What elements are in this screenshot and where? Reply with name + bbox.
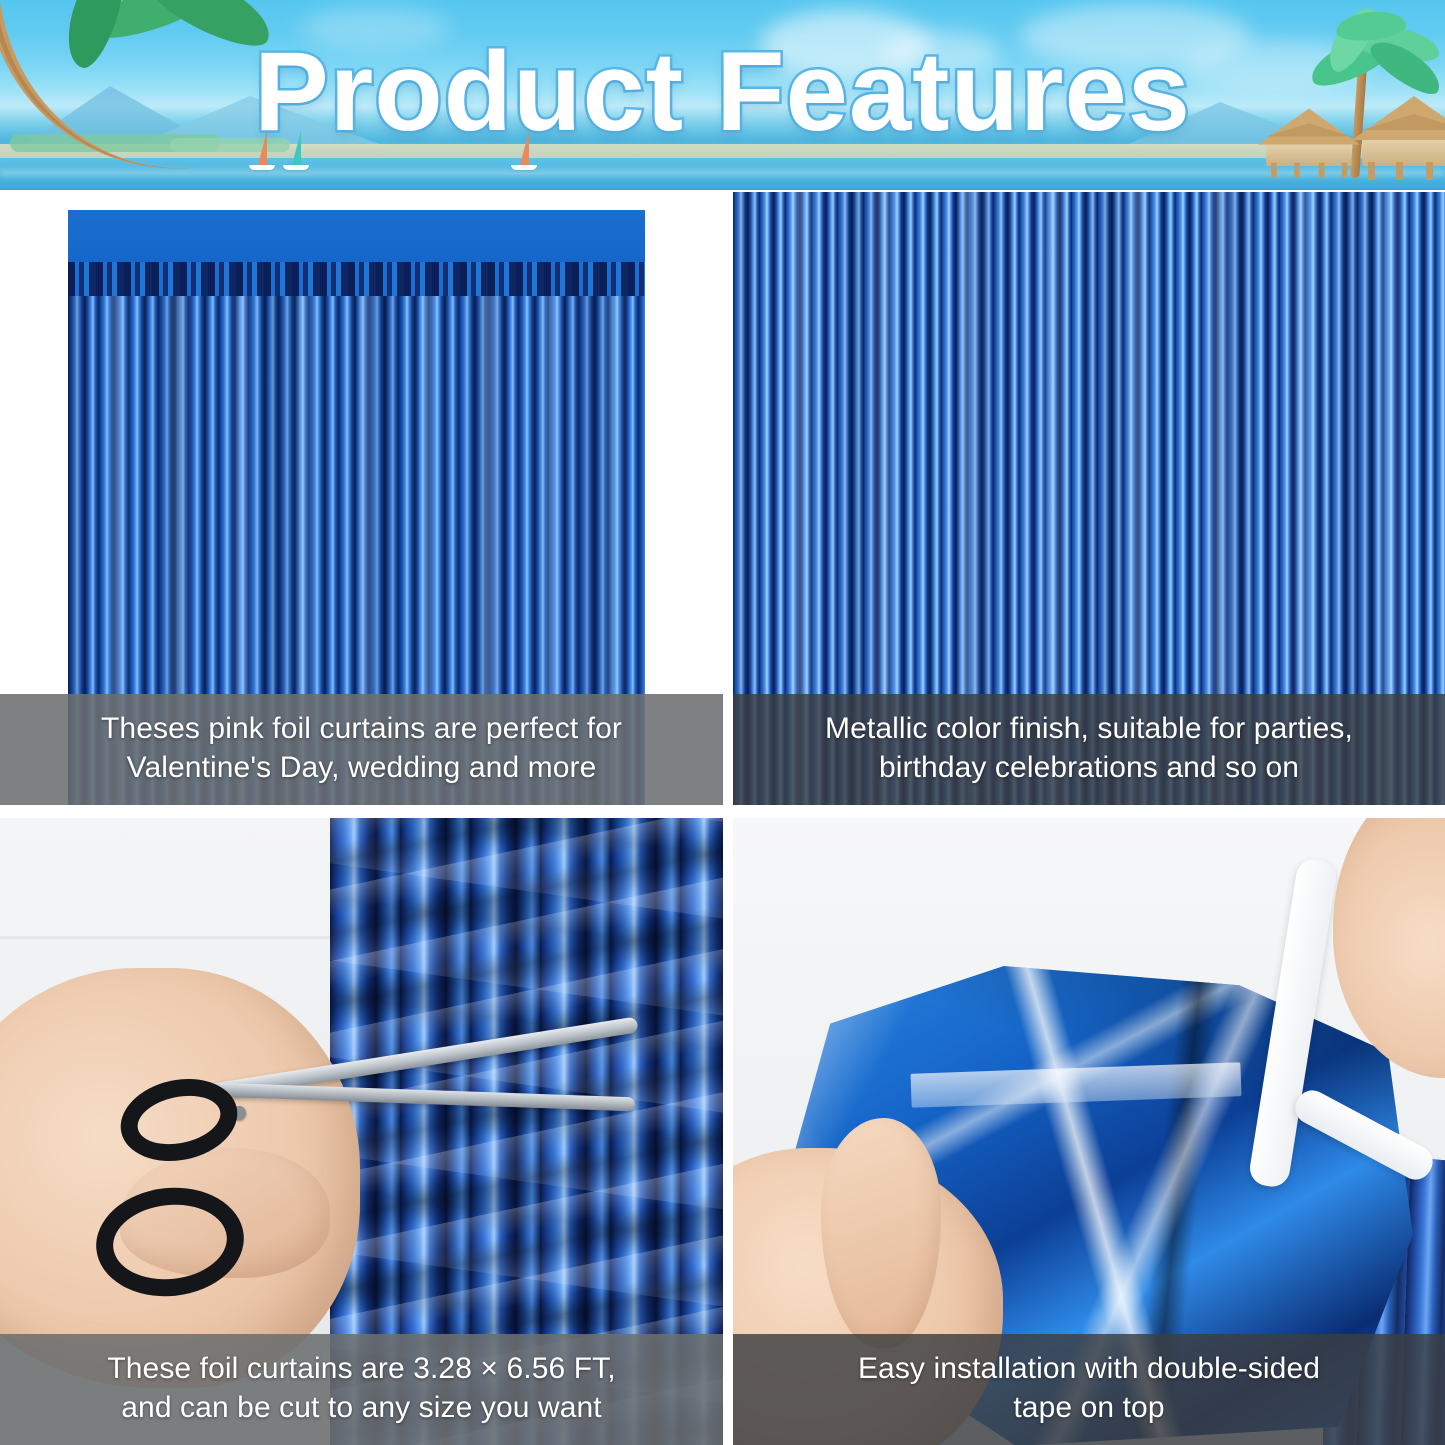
panel-caption: These foil curtains are 3.28 × 6.56 FT, … [0,1334,723,1445]
product-features-infographic: Product Features Theses pink foil curtai… [0,0,1445,1445]
panel-caption: Metallic color finish, suitable for part… [733,694,1445,805]
finger [821,1118,941,1348]
page-title: Product Features [0,36,1445,148]
feature-panel-grid: Theses pink foil curtains are perfect fo… [0,192,1445,1445]
feature-panel-top-right: Metallic color finish, suitable for part… [733,192,1445,805]
fringe-top-edge [68,262,645,296]
panel-caption: Theses pink foil curtains are perfect fo… [0,694,723,805]
header-banner: Product Features [0,0,1445,190]
feature-panel-bottom-left: These foil curtains are 3.28 × 6.56 FT, … [0,818,723,1445]
feature-panel-top-left: Theses pink foil curtains are perfect fo… [0,192,723,805]
panel-caption: Easy installation with double-sided tape… [733,1334,1445,1445]
feature-panel-bottom-right: Easy installation with double-sided tape… [733,818,1445,1445]
